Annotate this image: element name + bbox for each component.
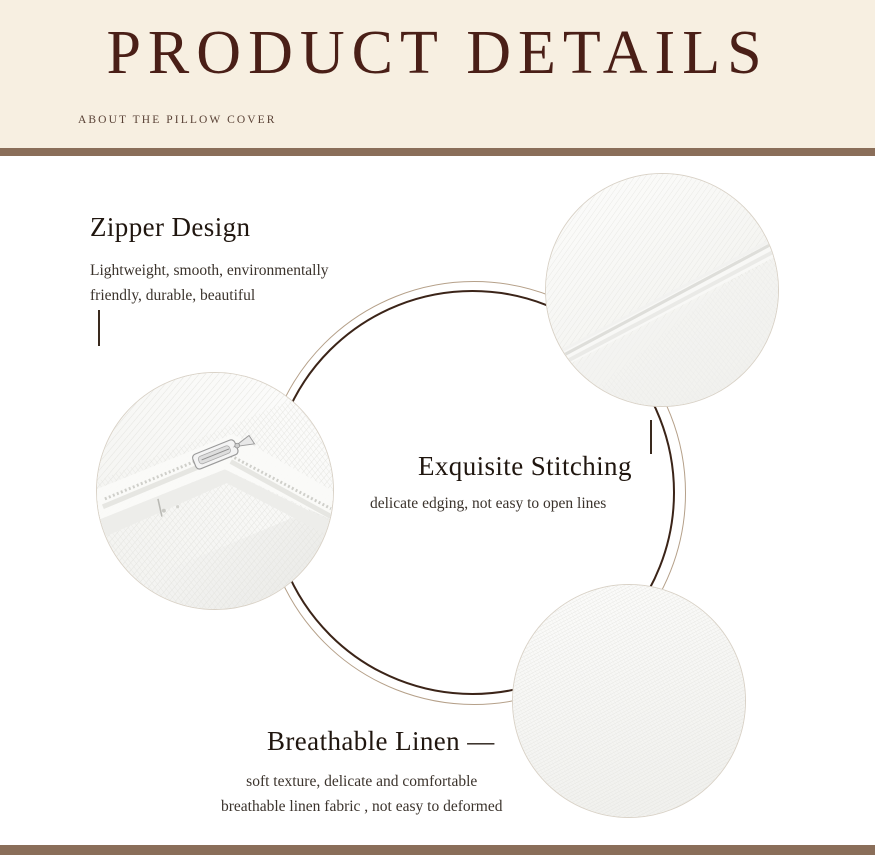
header-divider-rule: [0, 148, 875, 156]
details-diagram: Zipper Design Lightweight, smooth, envir…: [0, 156, 875, 861]
linen-texture-photo: [512, 584, 746, 818]
footer-divider-rule: [0, 845, 875, 855]
feature-title-zipper: Zipper Design: [90, 212, 329, 243]
feature-title-stitching: Exquisite Stitching: [418, 451, 632, 482]
page-header: PRODUCT DETAILS ABOUT THE PILLOW COVER: [0, 0, 875, 148]
feature-block-linen: Breathable Linen — soft texture, delicat…: [267, 726, 502, 819]
feature-line-linen-1: soft texture, delicate and comfortable: [221, 769, 502, 794]
feature-line-zipper-2: friendly, durable, beautiful: [90, 283, 329, 308]
feature-title-linen: Breathable Linen —: [267, 726, 502, 757]
feature-line-zipper-1: Lightweight, smooth, environmentally: [90, 258, 329, 283]
feature-line-stitching-1: delicate edging, not easy to open lines: [370, 491, 632, 516]
feature-block-zipper: Zipper Design Lightweight, smooth, envir…: [90, 212, 329, 308]
stitching-closeup-photo: [545, 173, 779, 407]
accent-tick-zipper: [98, 310, 100, 346]
accent-tick-stitching: [650, 420, 652, 454]
page-subtitle: ABOUT THE PILLOW COVER: [78, 114, 277, 126]
feature-block-stitching: Exquisite Stitching delicate edging, not…: [418, 451, 632, 516]
feature-line-linen-2: breathable linen fabric , not easy to de…: [221, 794, 502, 819]
page-title: PRODUCT DETAILS: [0, 22, 875, 84]
zipper-closeup-photo: [96, 372, 334, 610]
